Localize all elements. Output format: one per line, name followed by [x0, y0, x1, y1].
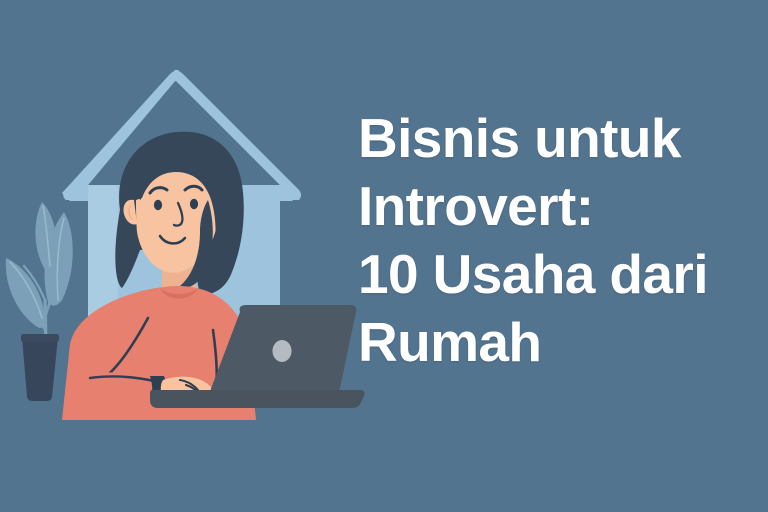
page-title: Bisnis untuk Introvert: 10 Usaha dari Ru… — [358, 104, 730, 376]
illustration-woman-working-from-home — [0, 0, 400, 512]
potted-plant-icon — [6, 202, 73, 401]
poster-canvas: Bisnis untuk Introvert: 10 Usaha dari Ru… — [0, 0, 768, 512]
